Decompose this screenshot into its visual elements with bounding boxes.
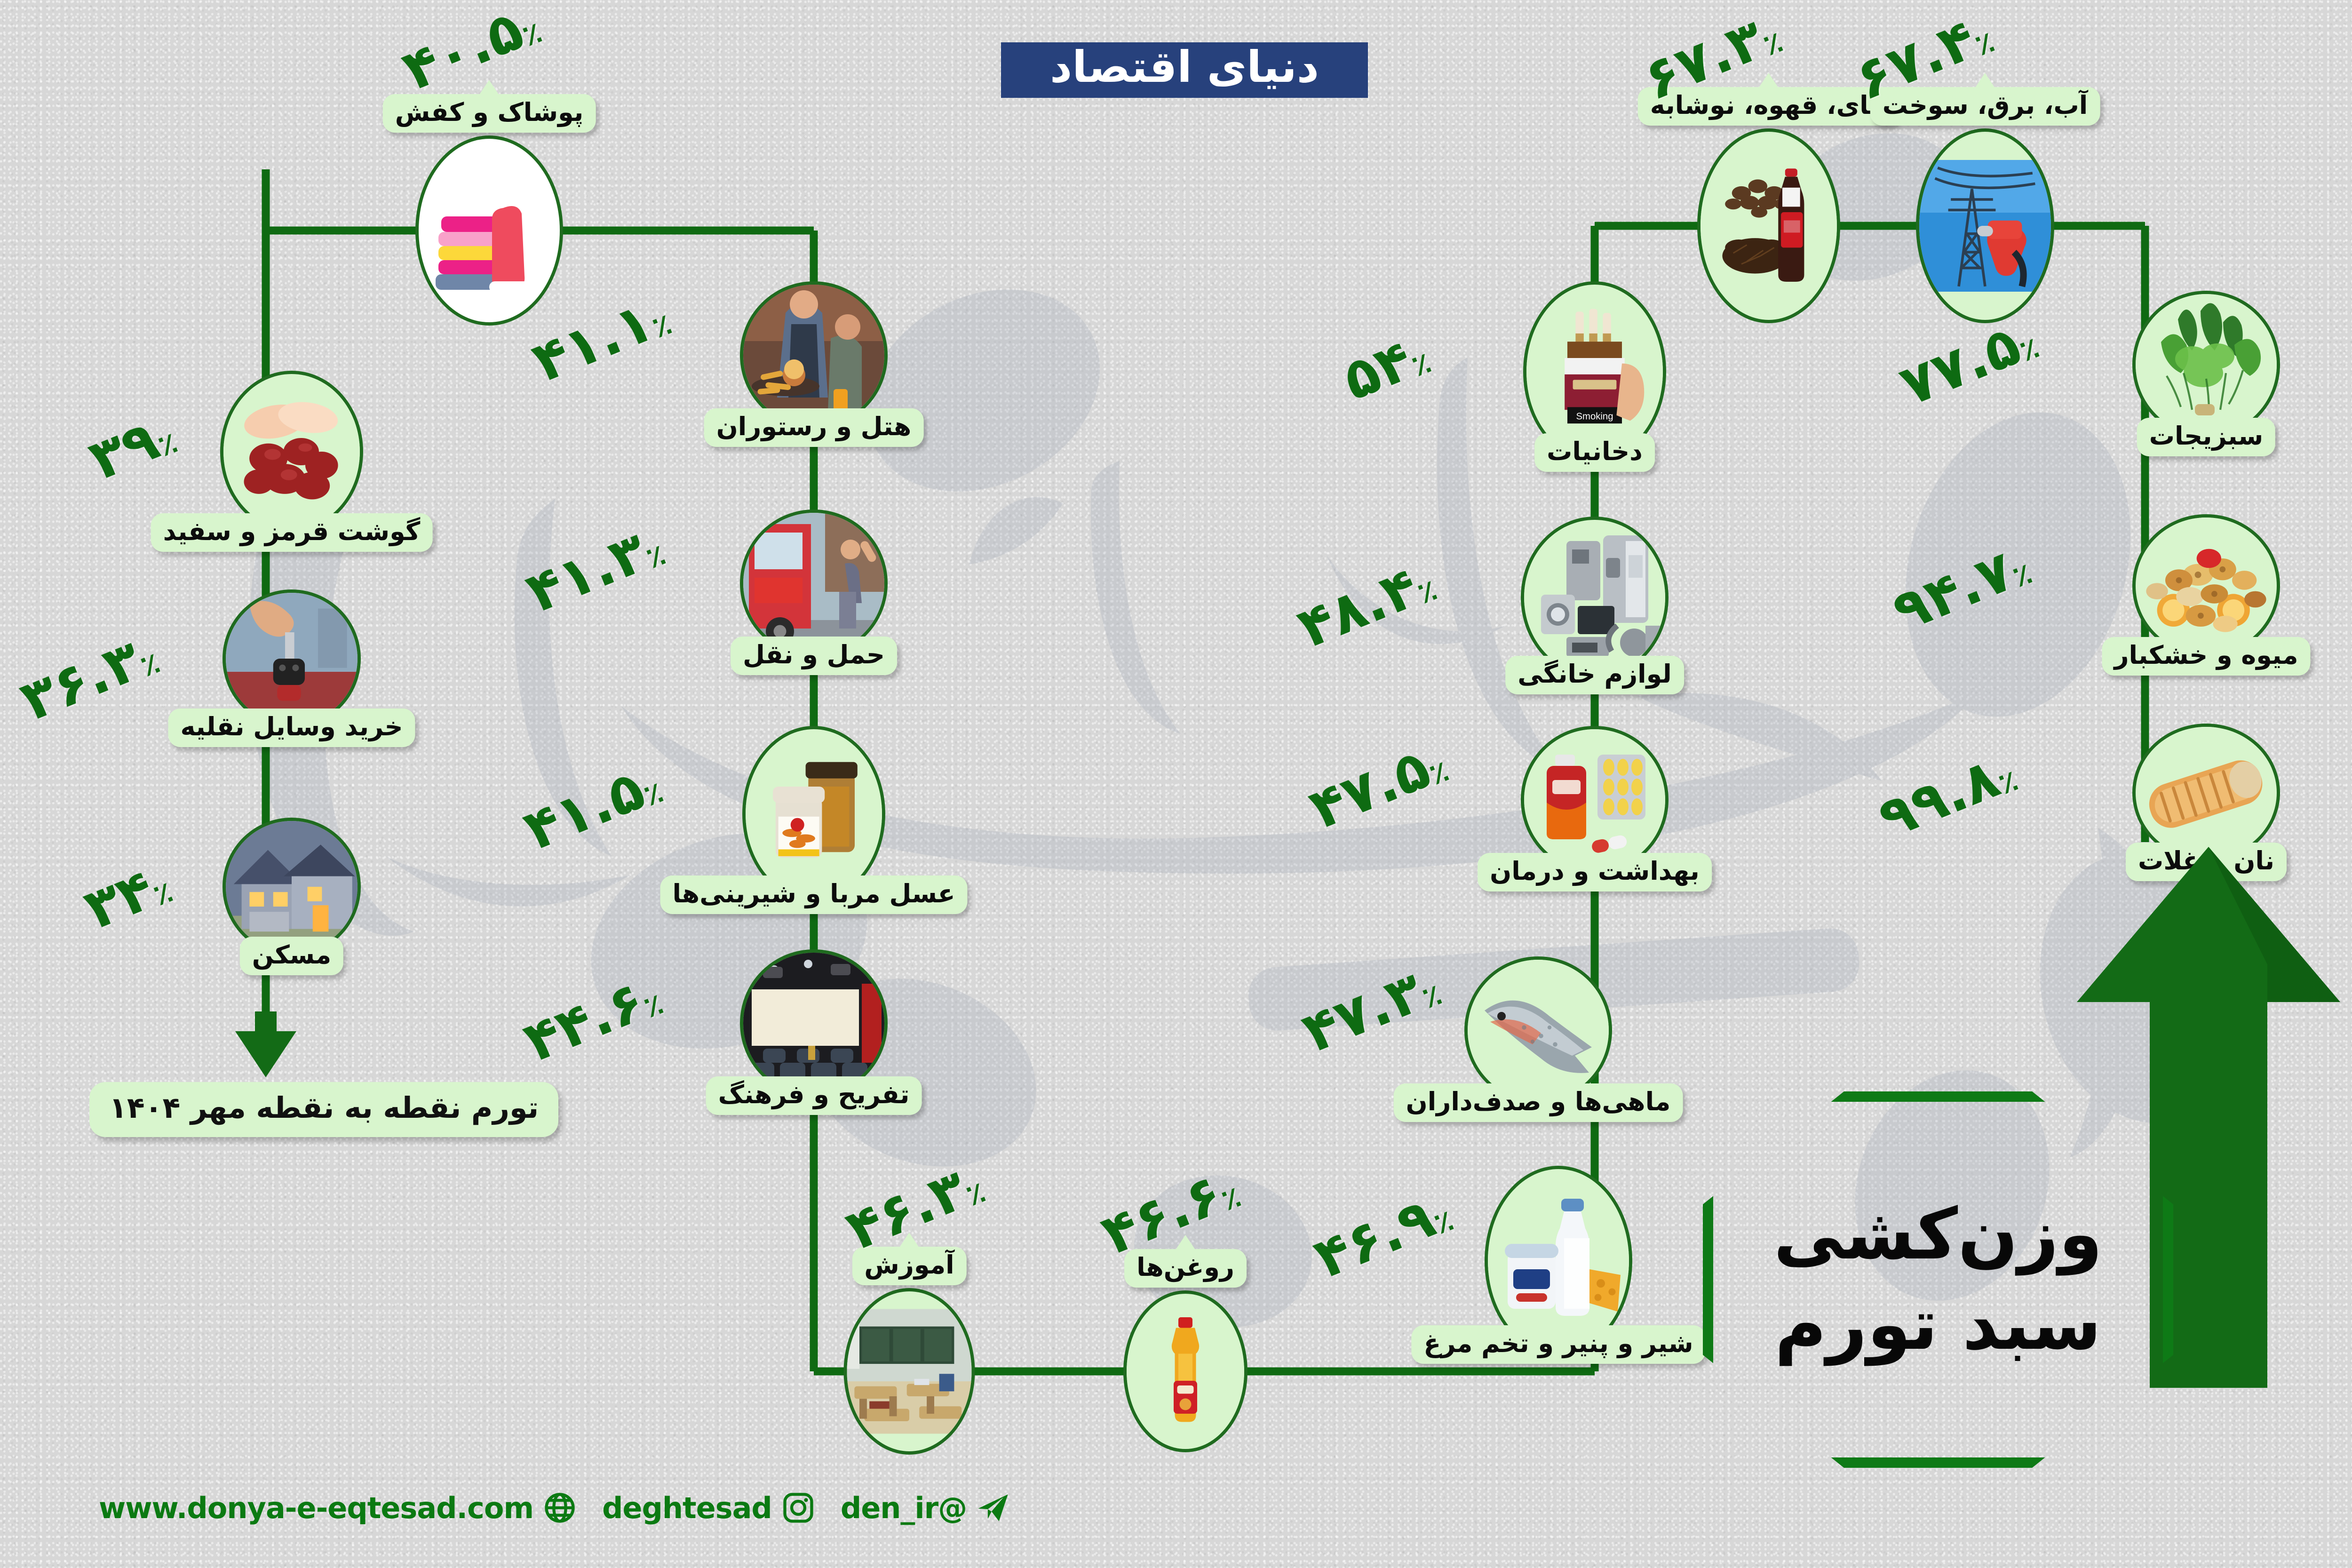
sabzi-image bbox=[2132, 291, 2280, 438]
haml-label: حمل و نقل bbox=[743, 640, 885, 669]
vasayel-image bbox=[222, 589, 361, 728]
node-goosht[interactable]: گوشت قرمز و سفید bbox=[220, 371, 363, 533]
asal-label: عسل مربا و شیرینی‌ها bbox=[673, 879, 955, 908]
tafrih-label: تفریح و فرهنگ bbox=[718, 1080, 910, 1109]
shir-label-chip: شیر و پنیر و تخم مرغ bbox=[1411, 1325, 1705, 1364]
caption-chip: تورم نقطه به نقطه مهر ۱۴۰۴ bbox=[89, 1082, 558, 1137]
title-line-2: سبد تورم bbox=[1775, 1280, 2101, 1370]
medicine-icon bbox=[1524, 729, 1665, 870]
house-icon bbox=[226, 821, 358, 953]
dokhaniat-label: دخانیات bbox=[1547, 437, 1643, 466]
footer-website[interactable]: www.donya-e-eqtesad.com bbox=[99, 1490, 578, 1526]
chai-image bbox=[1697, 128, 1840, 323]
sabzi-label: سبزیجات bbox=[2149, 421, 2263, 451]
vasayel-label-chip: خرید وسایل نقلیه bbox=[168, 708, 415, 747]
node-haml[interactable]: حمل و نقل bbox=[740, 509, 888, 657]
bus-icon bbox=[743, 513, 884, 654]
maskan-image bbox=[222, 818, 361, 956]
footer-bar: @den_ir deghtesad www.donya-e-eqtesad.co… bbox=[99, 1472, 1011, 1543]
dried-fruit-icon bbox=[2136, 517, 2277, 654]
goosht-label-chip: گوشت قرمز و سفید bbox=[151, 513, 433, 552]
car-key-icon bbox=[226, 593, 358, 724]
node-sabzi[interactable]: سبزیجات bbox=[2132, 291, 2280, 438]
mahi-label: ماهی‌ها و صدف‌داران bbox=[1406, 1087, 1671, 1116]
behdasht-label: بهداشت و درمان bbox=[1490, 856, 1700, 886]
node-roghan[interactable]: روغن‌ها bbox=[1123, 1290, 1248, 1452]
amoozesh-image bbox=[844, 1288, 975, 1455]
vasayel-label: خرید وسایل نقلیه bbox=[181, 712, 403, 741]
title-badge: وزن‌کشی سبد تورم bbox=[1703, 1091, 2173, 1468]
website-url: www.donya-e-eqtesad.com bbox=[99, 1491, 533, 1525]
goosht-image bbox=[220, 371, 363, 533]
node-behdasht[interactable]: بهداشت و درمان bbox=[1521, 726, 1669, 874]
pooshak-label-chip: پوشاک و کفش bbox=[383, 94, 596, 133]
footer-instagram[interactable]: deghtesad bbox=[602, 1490, 816, 1526]
down-arrow-icon bbox=[230, 1011, 301, 1077]
maskan-label: مسکن bbox=[252, 940, 331, 970]
dokhaniat-label-chip: دخانیات bbox=[1534, 433, 1655, 472]
miveh-image bbox=[2132, 514, 2280, 657]
appliances-icon bbox=[1524, 520, 1665, 675]
maskan-label-chip: مسکن bbox=[240, 937, 343, 975]
bread-icon bbox=[2136, 727, 2277, 859]
globe-icon bbox=[542, 1490, 578, 1526]
tafrih-label-chip: تفریح و فرهنگ bbox=[706, 1076, 922, 1115]
node-nan[interactable]: نان و غلات bbox=[2132, 724, 2280, 862]
hotel-label-chip: هتل و رستوران bbox=[704, 408, 924, 447]
node-maskan[interactable]: مسکن bbox=[222, 818, 361, 956]
brand-logo: دنیای اقتصاد bbox=[1001, 42, 1368, 98]
shir-label: شیر و پنیر و تخم مرغ bbox=[1423, 1329, 1693, 1358]
mahi-label-chip: ماهی‌ها و صدف‌داران bbox=[1394, 1083, 1683, 1122]
node-vasayel[interactable]: خرید وسایل نقلیه bbox=[222, 589, 361, 728]
node-mahi[interactable]: ماهی‌ها و صدف‌داران bbox=[1464, 956, 1612, 1104]
node-asal[interactable]: عسل مربا و شیرینی‌ها bbox=[742, 726, 885, 902]
cigarettes-icon: Smoking bbox=[1526, 285, 1663, 459]
meat-icon bbox=[223, 374, 360, 529]
nan-image bbox=[2132, 724, 2280, 862]
node-ab[interactable]: آب، برق، سوخت bbox=[1916, 128, 2054, 323]
ab-image bbox=[1916, 128, 2054, 323]
instagram-icon bbox=[780, 1490, 816, 1526]
svg-text:Smoking: Smoking bbox=[1576, 412, 1613, 422]
node-lavazem[interactable]: لوازم خانگی bbox=[1521, 517, 1669, 678]
pooshak-image bbox=[415, 135, 563, 326]
restaurant-icon bbox=[743, 285, 884, 426]
roghan-label: روغن‌ها bbox=[1136, 1252, 1234, 1282]
node-pooshak[interactable]: پوشاک و کفش bbox=[415, 135, 563, 326]
jam-honey-icon bbox=[746, 729, 882, 899]
vegetables-icon bbox=[2136, 294, 2277, 435]
title-line-1: وزن‌کشی bbox=[1773, 1189, 2102, 1280]
lavazem-label-chip: لوازم خانگی bbox=[1505, 656, 1684, 694]
telegram-icon bbox=[975, 1490, 1011, 1526]
clothes-shoes-icon bbox=[419, 139, 560, 322]
mahi-image bbox=[1464, 956, 1612, 1104]
asal-label-chip: عسل مربا و شیرینی‌ها bbox=[660, 876, 968, 914]
behdasht-image bbox=[1521, 726, 1669, 874]
node-shir[interactable]: شیر و پنیر و تخم مرغ bbox=[1485, 1166, 1632, 1356]
behdasht-label-chip: بهداشت و درمان bbox=[1478, 853, 1712, 891]
node-amoozesh[interactable]: آموزش bbox=[844, 1288, 975, 1455]
haml-label-chip: حمل و نقل bbox=[731, 637, 897, 675]
footer-telegram[interactable]: @den_ir bbox=[841, 1490, 1011, 1526]
oil-bottle-icon bbox=[1127, 1294, 1244, 1449]
instagram-handle: deghtesad bbox=[602, 1491, 772, 1525]
node-hotel[interactable]: هتل و رستوران bbox=[740, 281, 888, 429]
node-tafrih[interactable]: تفریح و فرهنگ bbox=[740, 949, 888, 1097]
goosht-label: گوشت قرمز و سفید bbox=[163, 517, 421, 546]
pooshak-label: پوشاک و کفش bbox=[395, 97, 584, 127]
sabzi-label-chip: سبزیجات bbox=[2137, 418, 2275, 456]
node-dokhaniat[interactable]: Smoking دخانیات bbox=[1523, 281, 1666, 462]
telegram-handle: @den_ir bbox=[841, 1491, 967, 1525]
coffee-cola-icon bbox=[1700, 132, 1837, 320]
brand-logo-text: دنیای اقتصاد bbox=[1050, 46, 1319, 89]
classroom-icon bbox=[847, 1291, 972, 1451]
lavazem-label: لوازم خانگی bbox=[1518, 659, 1672, 689]
electricity-fuel-icon bbox=[1919, 132, 2051, 320]
hotel-image bbox=[740, 281, 888, 429]
miveh-label-chip: میوه و خشکبار bbox=[2102, 637, 2310, 676]
lavazem-image bbox=[1521, 517, 1669, 678]
node-miveh[interactable]: میوه و خشکبار bbox=[2132, 514, 2280, 657]
roghan-image bbox=[1123, 1290, 1248, 1452]
fish-icon bbox=[1468, 960, 1609, 1101]
miveh-label: میوه و خشکبار bbox=[2114, 640, 2298, 670]
haml-image bbox=[740, 509, 888, 657]
node-chai[interactable]: چای، قهوه، نوشابه bbox=[1697, 128, 1840, 323]
tafrih-image bbox=[740, 949, 888, 1097]
hotel-label: هتل و رستوران bbox=[716, 412, 912, 441]
cinema-icon bbox=[743, 953, 884, 1094]
